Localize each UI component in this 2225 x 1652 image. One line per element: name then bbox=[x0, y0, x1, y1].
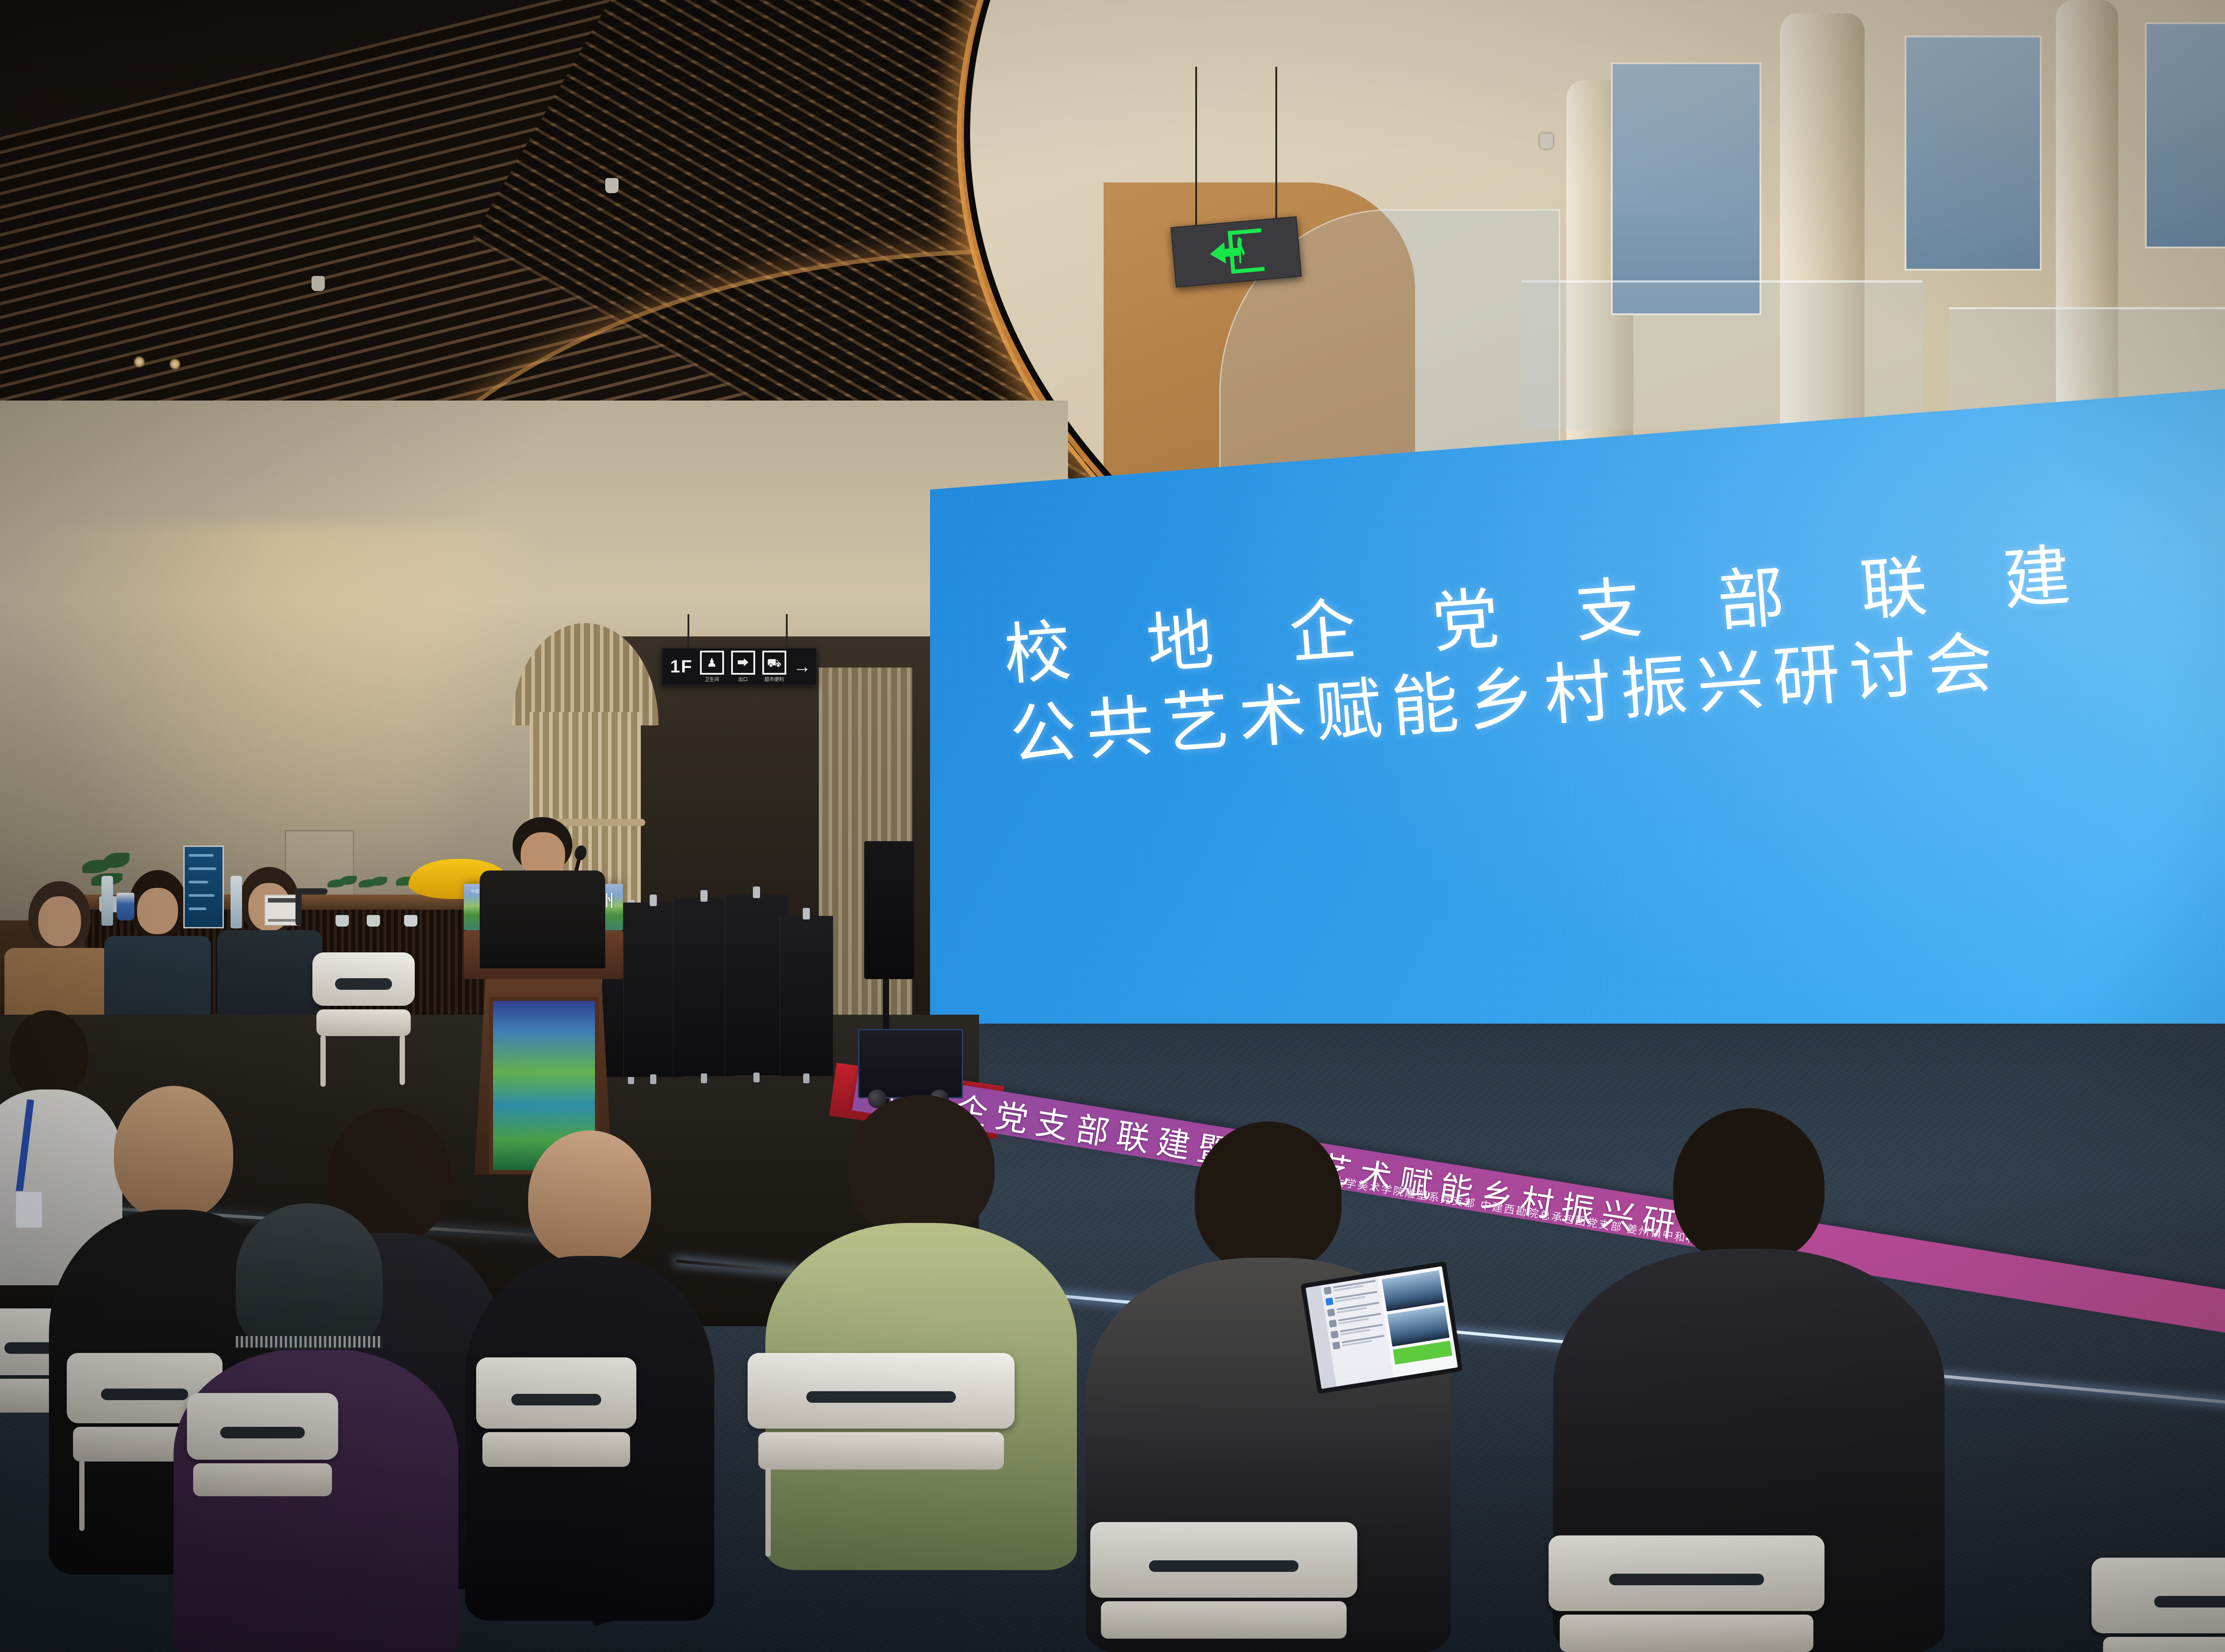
small-leaf-4 bbox=[371, 877, 387, 886]
chair-4-back bbox=[476, 1357, 636, 1429]
chair-2-slot bbox=[101, 1389, 188, 1400]
shopping-pictogram: ⛟ 超市便利 bbox=[762, 651, 786, 683]
podium-speaker-person bbox=[487, 817, 598, 960]
coat-attendee-head bbox=[1673, 1108, 1824, 1264]
lanyard-attendee-head bbox=[10, 1010, 88, 1097]
shopping-cart-icon: ⛟ bbox=[762, 651, 786, 675]
ceiling-spotlight-2 bbox=[169, 358, 181, 370]
chair-6-back bbox=[1090, 1522, 1357, 1598]
staff-1-face bbox=[38, 896, 81, 946]
shopping-caption: 超市便利 bbox=[765, 676, 784, 683]
preview-thumbnail-2[interactable] bbox=[1388, 1305, 1450, 1346]
atrium-window-3 bbox=[2145, 22, 2225, 248]
menu-line-1 bbox=[189, 854, 214, 857]
chat-avatar bbox=[1329, 1320, 1337, 1328]
chair-5-back bbox=[748, 1353, 1015, 1429]
chair-6-slot bbox=[1149, 1560, 1299, 1572]
chair-7-slot bbox=[1609, 1574, 1764, 1585]
menu-line-3 bbox=[189, 881, 208, 883]
counter-plant-small-2 bbox=[354, 873, 392, 927]
chair-3-seat bbox=[193, 1463, 332, 1496]
green-sweater-head bbox=[848, 1095, 995, 1237]
wayfinding-sign-1f[interactable]: 1F ♟ 卫生间 ⮕ 出口 ⛟ 超市便利 → bbox=[662, 648, 817, 685]
ceiling-spotlight-1 bbox=[133, 356, 145, 368]
laptop-user-head bbox=[1195, 1122, 1342, 1273]
sprinkler-head-2 bbox=[605, 178, 619, 193]
chair-6-seat bbox=[1101, 1601, 1347, 1639]
chair-8-seat bbox=[2103, 1637, 2225, 1652]
right-arrow-icon: → bbox=[793, 658, 811, 676]
sign-card-sub bbox=[268, 919, 296, 922]
exit-sign-hanger-right bbox=[1275, 67, 1277, 240]
stage-chair-handle-slot bbox=[335, 978, 392, 990]
audience-chair-8[interactable] bbox=[2091, 1558, 2225, 1652]
stage-chair-seat bbox=[316, 1009, 411, 1036]
sprinkler-head-4 bbox=[1540, 134, 1553, 149]
chair-3-back bbox=[187, 1393, 338, 1460]
atrium-window-2 bbox=[1905, 36, 2042, 271]
exit-icon: ⮕ bbox=[731, 651, 755, 675]
chat-avatar bbox=[1327, 1308, 1335, 1316]
atrium-glass-railing-1 bbox=[1522, 280, 1922, 429]
audience-chair-5[interactable] bbox=[748, 1353, 1015, 1558]
restroom-pictogram: ♟ 卫生间 bbox=[700, 651, 724, 683]
plant-leaf-2 bbox=[104, 853, 129, 868]
chat-preview bbox=[1342, 1335, 1385, 1348]
counter-faucet[interactable] bbox=[295, 888, 302, 926]
sprinkler-head-1 bbox=[311, 276, 325, 291]
audience-chair-6[interactable] bbox=[1090, 1522, 1357, 1652]
chair-3-slot bbox=[220, 1427, 305, 1438]
chat-preview bbox=[1335, 1291, 1378, 1304]
counter-sign-card bbox=[264, 895, 300, 926]
chair-4-slot bbox=[511, 1394, 601, 1405]
equipment-flight-case bbox=[858, 1029, 963, 1098]
menu-line-4 bbox=[189, 894, 214, 897]
menu-line-5 bbox=[189, 907, 206, 910]
floor-number-label: 1F bbox=[670, 657, 693, 677]
sign-card-title bbox=[268, 898, 296, 903]
water-bottle-1[interactable] bbox=[101, 876, 113, 926]
exit-pictogram: ⮕ 出口 bbox=[731, 651, 755, 683]
chair-5-leg-1 bbox=[765, 1468, 771, 1557]
stage-chair-leg-2 bbox=[400, 1035, 405, 1085]
staff-2-face bbox=[137, 888, 178, 934]
exit-left-arrow-icon bbox=[1209, 242, 1226, 265]
speaker-suit bbox=[480, 871, 605, 968]
conference-hall-photo: 1F ♟ 卫生间 ⮕ 出口 ⛟ 超市便利 → 校 地 企 党 支 部 联 建 公… bbox=[0, 0, 2225, 1652]
stage-divider-panel-4 bbox=[724, 895, 789, 1075]
leather-attendee-head bbox=[528, 1130, 651, 1264]
chat-avatar-active bbox=[1325, 1298, 1333, 1306]
chat-preview bbox=[1340, 1324, 1384, 1337]
atrium-window-1 bbox=[1611, 62, 1761, 315]
chair-2-leg-1 bbox=[79, 1460, 85, 1531]
chair-7-back bbox=[1549, 1535, 1824, 1611]
laptop-screen[interactable] bbox=[1306, 1266, 1458, 1389]
water-bottle-2[interactable] bbox=[231, 876, 242, 928]
chat-avatar bbox=[1332, 1341, 1340, 1349]
wayfinding-hanger-right bbox=[786, 614, 788, 650]
chair-7-seat bbox=[1560, 1615, 1813, 1652]
exit-caption: 出口 bbox=[738, 676, 748, 683]
chair-4-seat bbox=[482, 1432, 630, 1467]
stage-divider-panel-5 bbox=[780, 916, 833, 1076]
emergency-exit-sign bbox=[1171, 216, 1302, 287]
restroom-caption: 卫生间 bbox=[704, 676, 719, 683]
chair-5-slot bbox=[806, 1391, 956, 1403]
chat-preview bbox=[1338, 1313, 1382, 1326]
bald-attendee-head bbox=[114, 1086, 233, 1219]
audience-chair-3[interactable] bbox=[187, 1393, 338, 1571]
chat-avatar bbox=[1323, 1287, 1331, 1295]
chair-5-seat bbox=[758, 1432, 1004, 1470]
audience-chair-4[interactable] bbox=[476, 1357, 636, 1544]
pa-speaker bbox=[864, 841, 914, 979]
lanyard-badge bbox=[15, 1191, 43, 1228]
exit-running-person-icon bbox=[1227, 228, 1264, 274]
small-pot-3 bbox=[404, 915, 417, 927]
small-pot-1 bbox=[336, 915, 349, 927]
chat-avatar bbox=[1331, 1331, 1339, 1339]
laptop-lid bbox=[1300, 1261, 1463, 1394]
chair-8-back bbox=[2091, 1558, 2225, 1633]
preview-thumbnail-1[interactable] bbox=[1382, 1270, 1444, 1311]
beanie-text-band bbox=[236, 1336, 383, 1348]
menu-line-2 bbox=[189, 867, 216, 870]
chair-8-slot bbox=[2154, 1596, 2225, 1607]
stage-folding-chair[interactable] bbox=[312, 952, 415, 1086]
exit-sign-hanger-left bbox=[1195, 67, 1197, 227]
wayfinding-hanger-left bbox=[688, 614, 689, 650]
menu-display-board[interactable] bbox=[183, 846, 224, 928]
coffee-cup[interactable] bbox=[117, 893, 134, 920]
attendee-laptop[interactable] bbox=[1300, 1261, 1463, 1394]
audience-chair-7[interactable] bbox=[1549, 1535, 1824, 1652]
chat-preview bbox=[1336, 1302, 1380, 1315]
restroom-icon: ♟ bbox=[700, 651, 724, 675]
stage-chair-leg-1 bbox=[320, 1035, 326, 1087]
beanie-hat bbox=[236, 1203, 383, 1350]
small-pot-2 bbox=[367, 915, 380, 927]
chat-preview bbox=[1333, 1280, 1376, 1293]
